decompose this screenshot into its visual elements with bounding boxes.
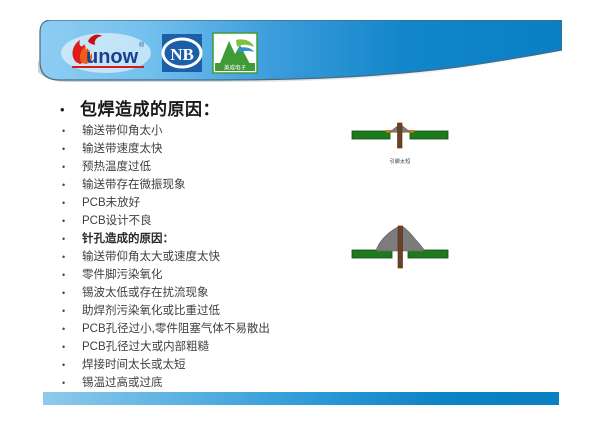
list-item: • PCB设计不良	[60, 213, 340, 230]
solder-joint-excess-diagram	[348, 222, 452, 275]
bullet-marker: •	[60, 375, 82, 392]
list-item: • 输送带仰角太大或速度太快	[60, 249, 340, 266]
bullet-marker: •	[60, 123, 82, 140]
list-item: • 输送带仰角太小	[60, 123, 340, 140]
list-item: • PCB孔径过小,零件阻塞气体不易散出	[60, 321, 340, 338]
list-item: • 锡波太低或存在扰流现象	[60, 285, 340, 302]
list-item-subheading: • 针孔造成的原因：	[60, 231, 340, 248]
list-item-label: 针孔造成的原因：	[82, 231, 340, 248]
diagram-caption: 引脚太短	[348, 158, 452, 165]
bullet-marker: •	[60, 321, 82, 338]
header-banner: unow ® NB	[38, 20, 562, 88]
list-item: • 预热温度过低	[60, 159, 340, 176]
registered-mark-icon: ®	[139, 41, 145, 49]
bullet-marker: •	[60, 100, 80, 120]
list-item-label: 助焊剂污染氧化或比重过低	[82, 303, 340, 320]
bullet-marker: •	[60, 357, 82, 374]
component-lead	[398, 123, 403, 148]
list-item-label: PCB设计不良	[82, 213, 340, 230]
bullet-marker: •	[60, 159, 82, 176]
slide-canvas: unow ® NB	[0, 0, 600, 424]
unow-underline	[72, 66, 144, 68]
list-item-label: PCB未放好	[82, 195, 340, 212]
list-item: • PCB孔径过大或内部粗糙	[60, 339, 340, 356]
footer-accent-bar	[43, 392, 559, 405]
bullet-marker: •	[60, 249, 82, 266]
bullet-marker: •	[60, 213, 82, 230]
bullet-marker: •	[60, 285, 82, 302]
pcb-board-right	[410, 131, 448, 139]
nb-logo: NB	[160, 31, 204, 75]
slide-body-content: • 包焊造成的原因： • 输送带仰角太小 • 输送带速度太快 • 预热温度过低 …	[60, 100, 340, 393]
list-item-label: 输送带存在微振现象	[82, 177, 340, 194]
bullet-marker: •	[60, 267, 82, 284]
list-item-label: 输送带仰角太小	[82, 123, 340, 140]
list-item-label: 预热温度过低	[82, 159, 340, 176]
list-item-label: 锡温过高或过底	[82, 375, 340, 392]
unow-wordmark: unow	[86, 46, 139, 68]
unow-logo: unow ®	[60, 31, 152, 75]
list-item-label: 输送带仰角太大或速度太快	[82, 249, 340, 266]
list-item: • PCB未放好	[60, 195, 340, 212]
list-item: • 零件脚污染氧化	[60, 267, 340, 284]
logo-row: unow ® NB	[60, 28, 258, 78]
list-item-label: PCB孔径过小,零件阻塞气体不易散出	[82, 321, 340, 338]
list-item-label: 锡波太低或存在扰流现象	[82, 285, 340, 302]
list-item: • 锡温过高或过底	[60, 375, 340, 392]
component-lead	[398, 226, 403, 268]
bullet-title: • 包焊造成的原因：	[60, 100, 340, 120]
green-company-logo: 美成电子	[212, 31, 258, 75]
pcb-board-left	[352, 131, 390, 139]
bullet-marker: •	[60, 195, 82, 212]
list-item: • 输送带存在微振现象	[60, 177, 340, 194]
bullet-marker: •	[60, 339, 82, 356]
list-item: • 输送带速度太快	[60, 141, 340, 158]
list-item-label: PCB孔径过大或内部粗糙	[82, 339, 340, 356]
nb-wordmark: NB	[170, 45, 194, 64]
bullet-marker: •	[60, 177, 82, 194]
bullet-marker: •	[60, 303, 82, 320]
bullet-marker: •	[60, 231, 82, 248]
list-item-label: 输送带速度太快	[82, 141, 340, 158]
list-item-label: 焊接时间太长或太短	[82, 357, 340, 374]
green-company-name: 美成电子	[224, 64, 247, 72]
list-item: • 焊接时间太长或太短	[60, 357, 340, 374]
bullet-marker: •	[60, 141, 82, 158]
list-item-label: 零件脚污染氧化	[82, 267, 340, 284]
bullet-title-text: 包焊造成的原因：	[80, 100, 340, 120]
solder-joint-short-lead-diagram: 引脚太短	[348, 118, 452, 165]
list-item: • 助焊剂污染氧化或比重过低	[60, 303, 340, 320]
